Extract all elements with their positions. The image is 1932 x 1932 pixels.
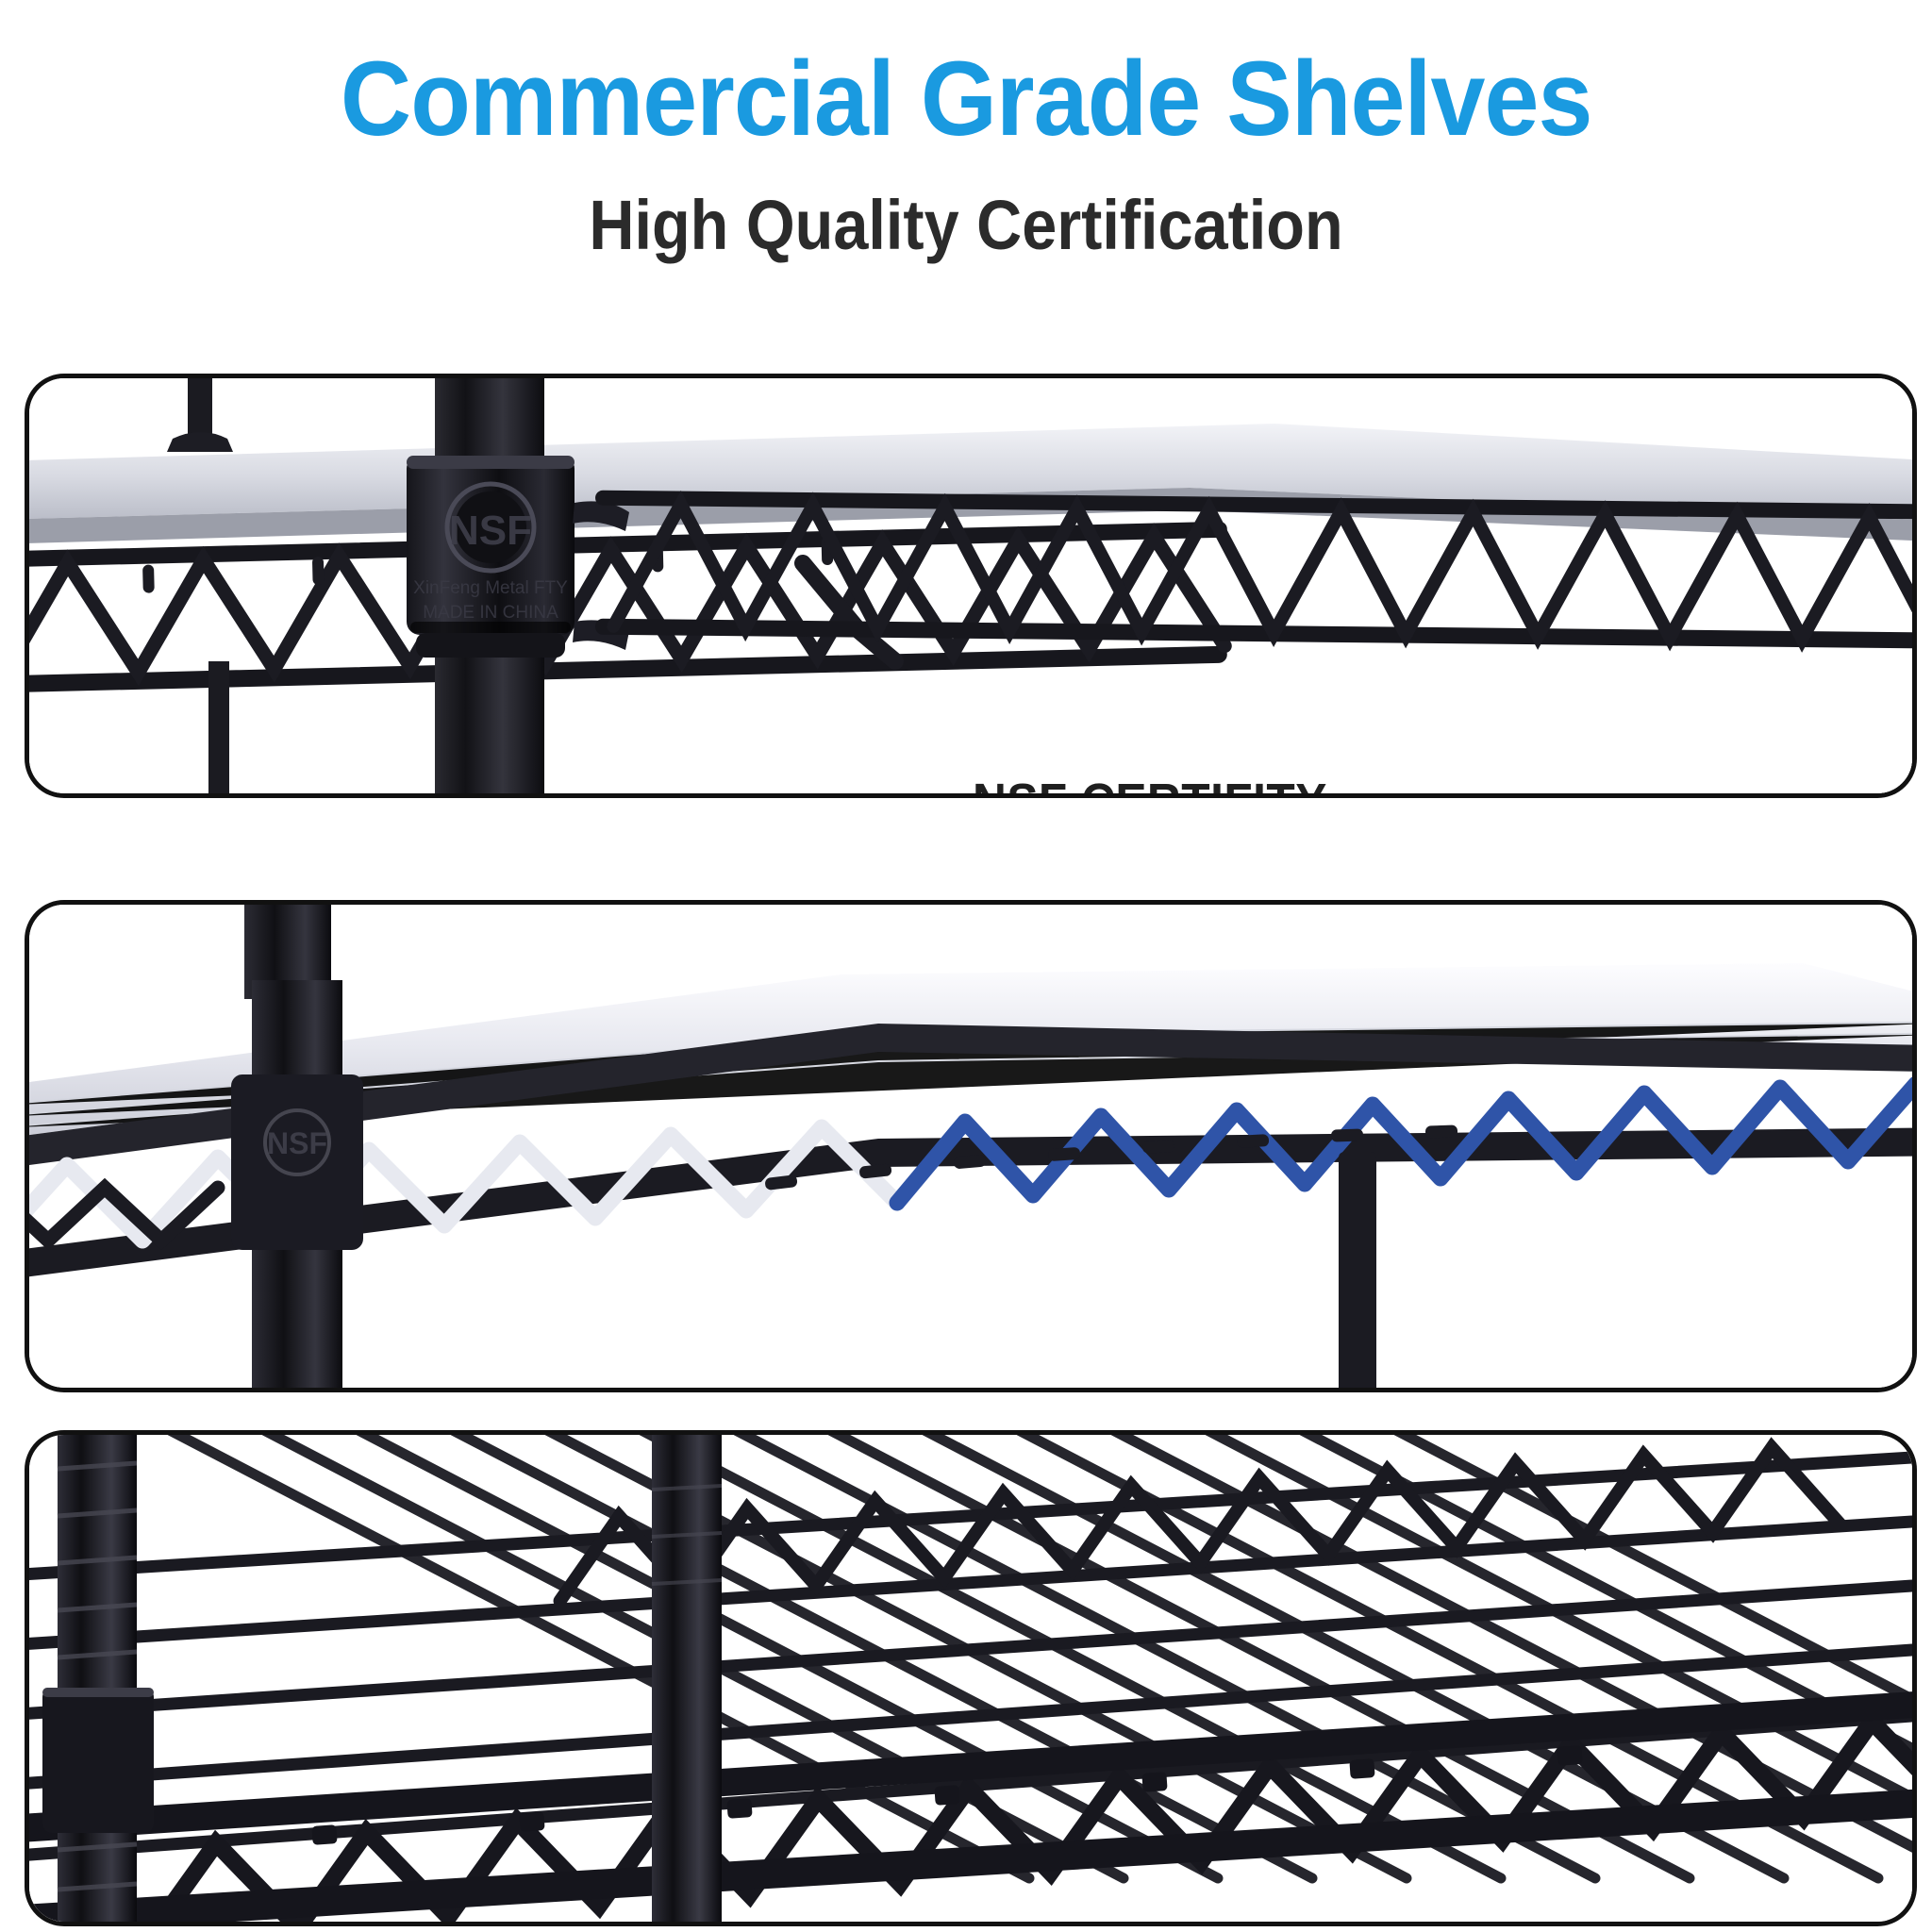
post-center [652,1435,722,1922]
feature-panel-nsf-certify: NSF XinFeng Metal FTY MADE IN CHINA [25,374,1917,798]
panel-title-nsf-certify: NSF CERTIFITY [973,773,1824,798]
wire-grid-illustration [29,1435,1912,1922]
svg-text:NSF: NSF [267,1126,327,1160]
header: Commercial Grade Shelves High Quality Ce… [0,0,1932,358]
shelf-edge-illustration: NSF [29,905,1912,1388]
feature-panel-v-shaped: NSF V-SHAPED High load bearing design wi… [25,900,1917,1392]
infographic-page: Commercial Grade Shelves High Quality Ce… [0,0,1932,1932]
page-title: Commercial Grade Shelves [341,43,1592,155]
svg-text:MADE IN CHINA: MADE IN CHINA [423,603,558,623]
svg-text:NSF: NSF [449,508,532,554]
caption-nsf-certify: NSF CERTIFITY Tapered locks design preve… [973,773,1897,798]
feature-panel-commercial-wire: COMMERCIAL GRADE WIRE The high-strength … [25,1430,1917,1926]
page-subtitle: High Quality Certification [589,191,1342,260]
svg-text:XinFeng Metal FTY: XinFeng Metal FTY [413,578,568,598]
